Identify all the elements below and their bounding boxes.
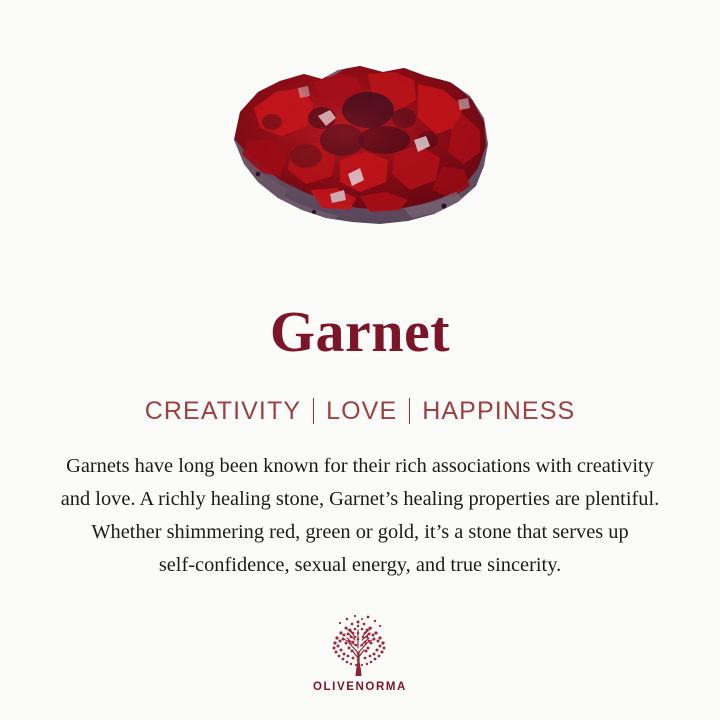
tree-icon [322,612,398,678]
description-line: self-confidence, sexual energy, and true… [22,549,698,582]
garnet-crystal-cluster-image [218,48,502,248]
keyword-separator [409,398,410,424]
description-line: Whether shimmering red, green or gold, i… [22,516,698,549]
keyword-love: LOVE [326,396,397,426]
description-line: and love. A richly healing stone, Garnet… [22,483,698,516]
keyword-separator [313,398,314,424]
stone-image-area [0,0,720,280]
keyword-happiness: HAPPINESS [422,396,575,426]
garnet-info-card: Garnet CREATIVITYLOVEHAPPINESS Garnets h… [0,0,720,720]
description-text: Garnets have long been known for their r… [22,450,698,582]
keyword-list: CREATIVITYLOVEHAPPINESS [0,396,720,426]
keyword-creativity: CREATIVITY [145,396,301,426]
brand-logo: OLIVENORMA [0,612,720,693]
description-line: Garnets have long been known for their r… [22,450,698,483]
page-title: Garnet [0,302,720,363]
brand-name: OLIVENORMA [0,681,720,693]
